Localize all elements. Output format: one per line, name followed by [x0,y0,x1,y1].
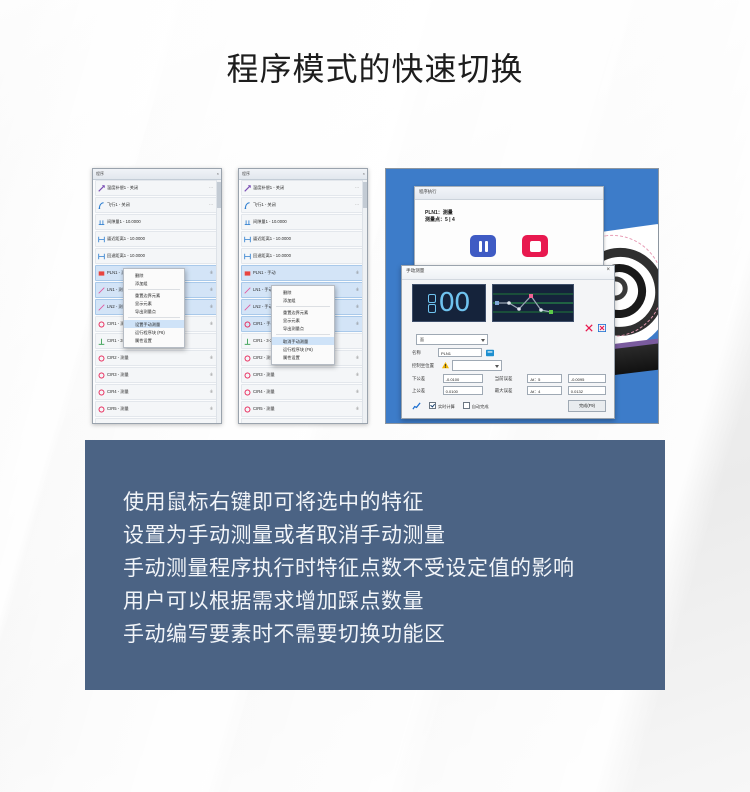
stop-icon [530,241,541,252]
distance-icon [244,219,251,226]
line-icon [98,287,105,294]
point-icon [244,338,251,345]
dialog-titlebar: 程序执行 [415,187,603,200]
circle-icon [244,372,251,379]
point-icon [98,338,105,345]
feature-row-action[interactable]: ⁜ [356,406,359,411]
close-icon[interactable]: × [606,267,610,273]
feature-row-label: 飞行1 - 关闭 [253,202,276,208]
readout-value: 00 [438,290,469,316]
context-menu-item[interactable]: 导出测量点 [124,308,184,316]
feature-row-action[interactable]: ··· [355,185,359,190]
feature-row-action[interactable]: ··· [209,185,213,190]
circle-icon [244,423,251,425]
control-position-label: 控制坐位置 [412,363,442,369]
measure-icon [244,236,251,243]
realtime-calc-label: 实时计算 [438,404,455,409]
program-panel-left[interactable]: 程序 × 温度补偿1 - 关闭···飞行1 - 关闭···间隙量1 - 10.0… [92,168,222,424]
plane-icon [98,270,105,277]
feature-row-action[interactable]: ⁜ [210,372,213,377]
description-line: 使用鼠标右键即可将选中的特征 [123,486,665,519]
context-menu-item[interactable]: 重置边界元素 [272,308,334,316]
feature-row[interactable]: 回退距离1 - 10.0000 [95,248,217,264]
feature-row-label: CIR2 - 测量 [107,355,129,361]
context-menu-left[interactable]: 删除添加组重置边界元素显示元素导出测量点设置手动测量运行程序块 (F6)属性设置 [123,268,185,348]
temperature-icon [244,185,251,192]
context-menu-item[interactable]: 重置边界元素 [124,291,184,299]
menu-separator [128,317,180,318]
feature-row[interactable]: 间隙量1 - 10.0000 [241,214,363,230]
feature-row-label: CIR_BF1 - 拟合 [253,423,282,424]
feature-row-label: 间隙量1 - 10.0000 [253,219,287,225]
close-icon[interactable]: × [217,170,219,178]
scrollbar-thumb[interactable] [363,182,367,208]
line-icon [98,304,105,311]
feature-row-label: 回退距离1 - 10.0000 [253,253,291,259]
distance-icon [98,219,105,226]
feature-row-label: 飞行1 - 关闭 [107,202,130,208]
checkbox-box [429,402,436,409]
clear-all-icon[interactable] [598,324,606,332]
feature-row[interactable]: 飞行1 - 关闭··· [95,197,217,213]
auto-finish-checkbox[interactable]: 自动完成 [463,402,489,410]
circle-icon [244,321,251,328]
program-panel-middle[interactable]: 程序 × 温度补偿1 - 关闭···飞行1 - 关闭···间隙量1 - 10.0… [238,168,368,424]
realtime-calc-checkbox[interactable]: 实时计算 [429,402,455,410]
context-menu-item[interactable]: 设置手动测量 [124,320,184,328]
temperature-icon [98,185,105,192]
feature-row[interactable]: CIR3 - 测量⁜ [241,367,363,383]
dialog-footer[interactable]: 实时计算 自动完成 完成(F9) [412,400,606,412]
description-list: 使用鼠标右键即可将选中的特征设置为手动测量或者取消手动测量手动测量程序执行时特征… [85,440,665,651]
feature-row-label: CIR4 - 测量 [253,389,275,395]
feature-row-label: 间隙量1 - 10.0000 [107,219,141,225]
stop-button[interactable] [522,235,548,257]
context-menu-item[interactable]: 取消手动测量 [272,337,334,345]
circle-icon [98,372,105,379]
context-menu-item[interactable]: 属性设置 [124,336,184,344]
feature-row[interactable]: 逼近距离1 - 10.0000 [241,231,363,247]
feature-row-label: CIR3 - 测量 [107,372,129,378]
page-title: 程序模式的快速切换 [0,44,750,90]
context-menu-middle[interactable]: 删除添加组重置边界元素显示元素导出测量点取消手动测量运行程序块 (F6)属性设置 [271,285,335,365]
context-menu-item[interactable]: 属性设置 [272,353,334,361]
circle-icon [98,423,105,425]
feature-row-label: 温度补偿1 - 关闭 [107,185,138,191]
line-icon [244,287,251,294]
measure-icon [244,253,251,260]
menu-separator [276,306,330,307]
feature-row[interactable]: CIR3 - 测量⁜ [95,367,217,383]
feature-row[interactable]: CIR_BF1 - 拟合⁜ [241,418,363,424]
measure-icon [98,236,105,243]
feature-row-label: CIR5 - 测量 [107,406,129,412]
auto-finish-label: 自动完成 [472,404,489,409]
feature-row-label: CIR4 - 测量 [107,389,129,395]
scrollbar-vertical[interactable] [362,180,367,424]
feature-row-label: LN1 - 手动 [253,287,273,293]
feature-row-action[interactable]: ⁜ [356,389,359,394]
feature-row-label: CIR5 - 测量 [253,406,275,412]
feature-type-value: 面 [417,335,424,344]
feature-row-action[interactable]: ⁜ [356,287,359,292]
window-titlebar: 程序 × [239,169,367,180]
feature-row-action[interactable]: ⁜ [210,389,213,394]
name-input[interactable]: PLN1 [438,348,482,357]
readout-small-digits [428,294,436,313]
feature-row-label: 逼近距离1 - 10.0000 [253,236,291,242]
max-error-index: At：4 [527,386,561,395]
context-menu-item[interactable]: 显示元素 [272,317,334,325]
feature-row-action[interactable]: ⁜ [210,355,213,360]
feature-row-action[interactable]: ⁜ [210,270,213,275]
feature-type-select[interactable]: 面 [416,334,488,345]
max-error-value: 0.0132 [568,386,606,395]
feature-row-action[interactable]: ⁜ [356,355,359,360]
dialog-title-text: 手动测量 [406,268,424,273]
feature-row[interactable]: CIR2 - 测量⁜ [95,350,217,366]
feature-row[interactable]: PLN1 - 手动⁜ [241,265,363,281]
feature-row-label: 逼近距离1 - 10.0000 [107,236,145,242]
max-error-label: 最大误差 [495,388,522,394]
upper-tolerance-label: 上公差 [412,388,437,394]
name-row[interactable]: 名称 PLN1 [412,348,606,357]
feature-row-action[interactable]: ⁜ [356,423,359,424]
circle-icon [244,355,251,362]
context-menu-item[interactable]: 删除 [272,288,334,296]
description-line: 用户可以根据需求增加踩点数量 [123,585,665,618]
circle-icon [98,389,105,396]
context-menu-item[interactable]: 运行程序块 (F6) [272,345,334,353]
circle-icon [98,355,105,362]
circle-icon [244,406,251,413]
current-error-value: -0.0095 [568,374,606,383]
feature-row-label: 回退距离1 - 10.0000 [107,253,145,259]
pause-button[interactable] [470,235,496,257]
feature-row[interactable]: 飞行1 - 关闭··· [241,197,363,213]
deviation-chart [492,284,574,322]
finish-button[interactable]: 完成(F9) [568,400,606,412]
feature-row[interactable]: CIR4 - 测量⁜ [241,384,363,400]
flight-icon [244,202,251,209]
feature-row[interactable]: 温度补偿1 - 关闭··· [95,180,217,196]
plane-icon [244,270,251,277]
feature-row[interactable]: 逼近距离1 - 10.0000 [95,231,217,247]
feature-row-label: LN2 - 手动 [253,304,273,310]
execution-message-line2: 测量点：5 | 4 [425,217,603,224]
dialog-titlebar: 手动测量 × [402,266,614,280]
lower-tolerance-label: 下公差 [412,376,437,382]
upper-tolerance-row[interactable]: 上公差 0.0100 最大误差 At：4 0.0132 [412,386,606,395]
feature-row-action[interactable]: ⁜ [356,270,359,275]
lower-tolerance-input[interactable]: -0.0100 [443,374,483,383]
execution-message-line1: PLN1：测量 [425,210,603,217]
feature-row-label: PLN1 - 手动 [253,270,276,276]
feature-row-action[interactable]: ··· [355,202,359,207]
feature-row[interactable]: CIR4 - 测量⁜ [95,384,217,400]
lower-tolerance-row[interactable]: 下公差 -0.0100 当前误差 At：5 -0.0095 [412,374,606,383]
feature-row-action[interactable]: ⁜ [210,406,213,411]
program-list-left[interactable]: 温度补偿1 - 关闭···飞行1 - 关闭···间隙量1 - 10.0000逼近… [93,180,221,424]
line-icon [244,304,251,311]
current-error-index: At：5 [527,374,561,383]
feature-row-action[interactable]: ··· [209,202,213,207]
feature-row-action[interactable]: ⁜ [356,321,359,326]
window-title-text: 程序 [242,171,250,176]
control-position-select[interactable] [452,360,502,371]
feature-row-action[interactable]: ⁜ [210,321,213,326]
pick-name-icon[interactable] [486,349,494,357]
feature-row[interactable]: CIR_BF1 - 拟合⁜ [95,418,217,424]
menu-separator [276,334,330,335]
circle-icon [98,406,105,413]
feature-row-action[interactable]: ⁜ [356,304,359,309]
feature-row[interactable]: CIR5 - 测量⁜ [95,401,217,417]
feature-row[interactable]: 间隙量1 - 10.0000 [95,214,217,230]
digital-readout: 00 [412,284,486,322]
feature-row[interactable]: 回退距离1 - 10.0000 [241,248,363,264]
description-line: 手动编写要素时不需要切换功能区 [123,618,665,651]
feature-row-label: CIR3 - 测量 [253,372,275,378]
current-error-label: 当前误差 [495,376,522,382]
pause-icon [479,241,488,252]
checkbox-box [463,402,470,409]
menu-separator [128,289,180,290]
description-line: 手动测量程序执行时特征点数不受设定值的影响 [123,552,665,585]
circle-icon [244,389,251,396]
context-menu-item[interactable]: 导出测量点 [272,325,334,333]
execution-message: PLN1：测量 测量点：5 | 4 [425,210,603,224]
chart-settings-icon[interactable] [412,402,421,411]
circle-icon [98,321,105,328]
dialog-title-text: 程序执行 [419,189,437,194]
clear-point-icon[interactable] [585,324,593,332]
chart-tools[interactable] [585,324,606,332]
control-position-row[interactable]: 控制坐位置 [412,360,606,371]
description-line: 设置为手动测量或者取消手动测量 [123,519,665,552]
feature-row-action[interactable]: ⁜ [356,372,359,377]
name-label: 名称 [412,350,438,356]
feature-row-label: 温度补偿1 - 关闭 [253,185,284,191]
manual-measure-form[interactable]: 面 名称 PLN1 控制坐位置 下公差 -0.0100 当前误差 At：5 [412,334,606,398]
upper-tolerance-input[interactable]: 0.0100 [443,386,483,395]
feature-type-row[interactable]: 面 [412,334,606,345]
description-block: 使用鼠标右键即可将选中的特征设置为手动测量或者取消手动测量手动测量程序执行时特征… [85,440,665,690]
context-menu-item[interactable]: 添加组 [124,279,184,287]
feature-row[interactable]: CIR5 - 测量⁜ [241,401,363,417]
context-menu-item[interactable]: 显示元素 [124,300,184,308]
feature-row-action[interactable]: ⁜ [210,287,213,292]
window-titlebar: 程序 × [93,169,221,180]
measure-icon [98,253,105,260]
scrollbar-thumb[interactable] [217,182,221,208]
context-menu-item[interactable]: 添加组 [272,296,334,304]
context-menu-item[interactable]: 运行程序块 (F6) [124,328,184,336]
feature-row-label: CIR_BF1 - 拟合 [107,423,136,424]
flight-icon [98,202,105,209]
program-list-middle[interactable]: 温度补偿1 - 关闭···飞行1 - 关闭···间隙量1 - 10.0000逼近… [239,180,367,424]
window-title-text: 程序 [96,171,104,176]
feature-row-action[interactable]: ⁜ [210,423,213,424]
scrollbar-vertical[interactable] [216,180,221,424]
close-icon[interactable]: × [363,170,365,178]
feature-row-action[interactable]: ⁜ [210,304,213,309]
warning-icon [442,362,449,369]
feature-row[interactable]: 温度补偿1 - 关闭··· [241,180,363,196]
manual-measure-dialog[interactable]: 手动测量 × 00 面 [401,265,615,419]
execution-controls[interactable] [415,235,603,257]
context-menu-item[interactable]: 删除 [124,271,184,279]
